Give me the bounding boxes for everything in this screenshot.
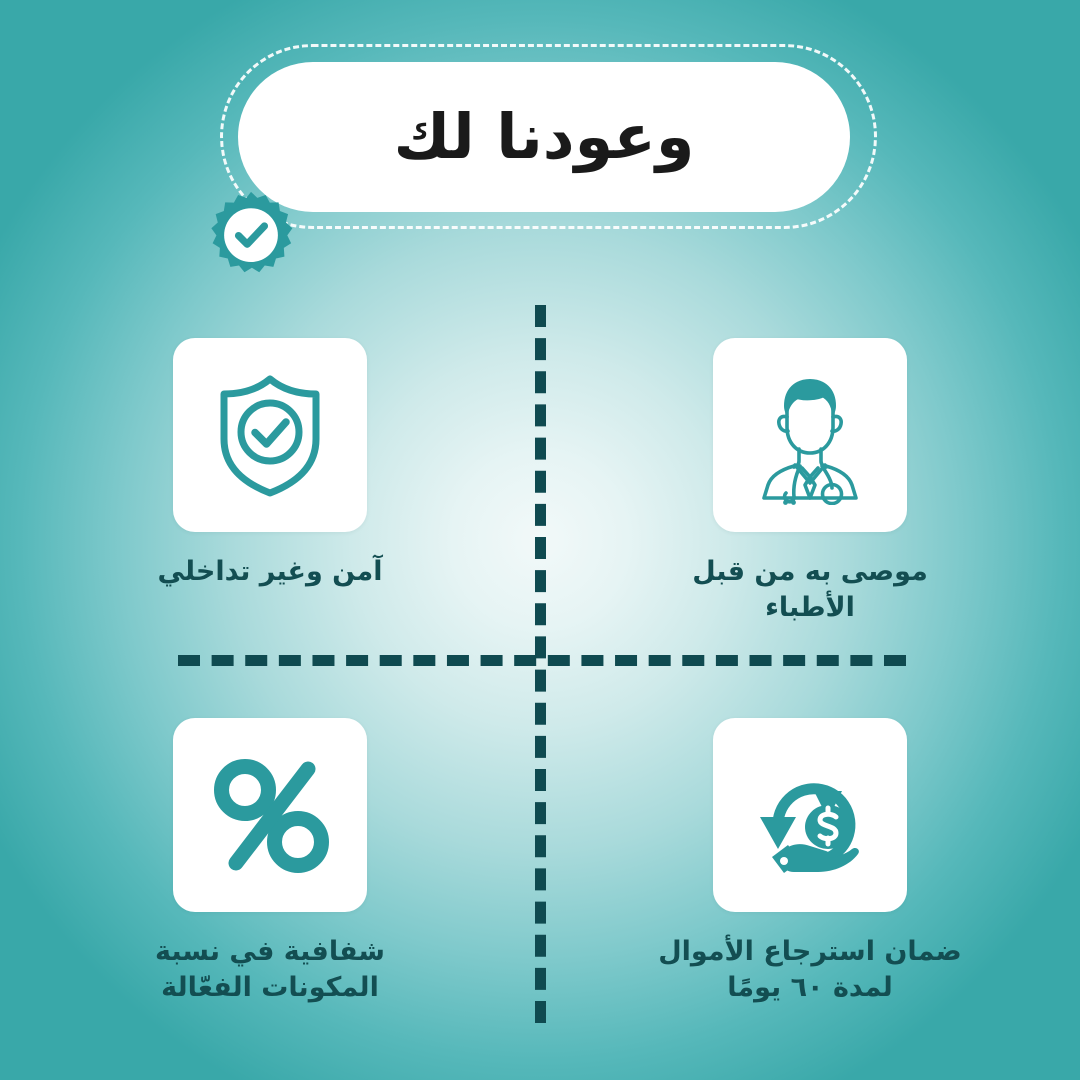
- percent-icon: [200, 745, 340, 885]
- feature-safe-non-invasive: آمن وغير تداخلي: [0, 300, 540, 690]
- shield-check-icon-tile: [173, 338, 367, 532]
- feature-caption: موصى به من قبل الأطباء: [660, 554, 960, 625]
- page-title: وعودنا لك: [394, 106, 695, 168]
- header: وعودنا لك: [0, 0, 1080, 300]
- verified-check-badge-icon: [203, 190, 299, 286]
- doctor-stethoscope-icon: [740, 365, 880, 505]
- feature-ingredient-transparency: شفافية في نسبة المكونات الفعّالة: [0, 690, 540, 1080]
- feature-money-back-guarantee: ضمان استرجاع الأموال لمدة ٦٠ يومًا: [540, 690, 1080, 1080]
- feature-caption: شفافية في نسبة المكونات الفعّالة: [120, 934, 420, 1005]
- shield-check-icon: [200, 365, 340, 505]
- promo-card: وعودنا لك آمن وغير تد: [0, 0, 1080, 1080]
- feature-caption: ضمان استرجاع الأموال لمدة ٦٠ يومًا: [645, 934, 975, 1005]
- feature-grid: آمن وغير تداخلي: [0, 300, 1080, 1080]
- doctor-stethoscope-icon-tile: [713, 338, 907, 532]
- percent-icon-tile: [173, 718, 367, 912]
- title-pill: وعودنا لك: [238, 62, 850, 212]
- feature-doctor-recommended: موصى به من قبل الأطباء: [540, 300, 1080, 690]
- feature-caption: آمن وغير تداخلي: [120, 554, 420, 590]
- money-back-hand-icon-tile: [713, 718, 907, 912]
- money-back-hand-icon: [740, 745, 880, 885]
